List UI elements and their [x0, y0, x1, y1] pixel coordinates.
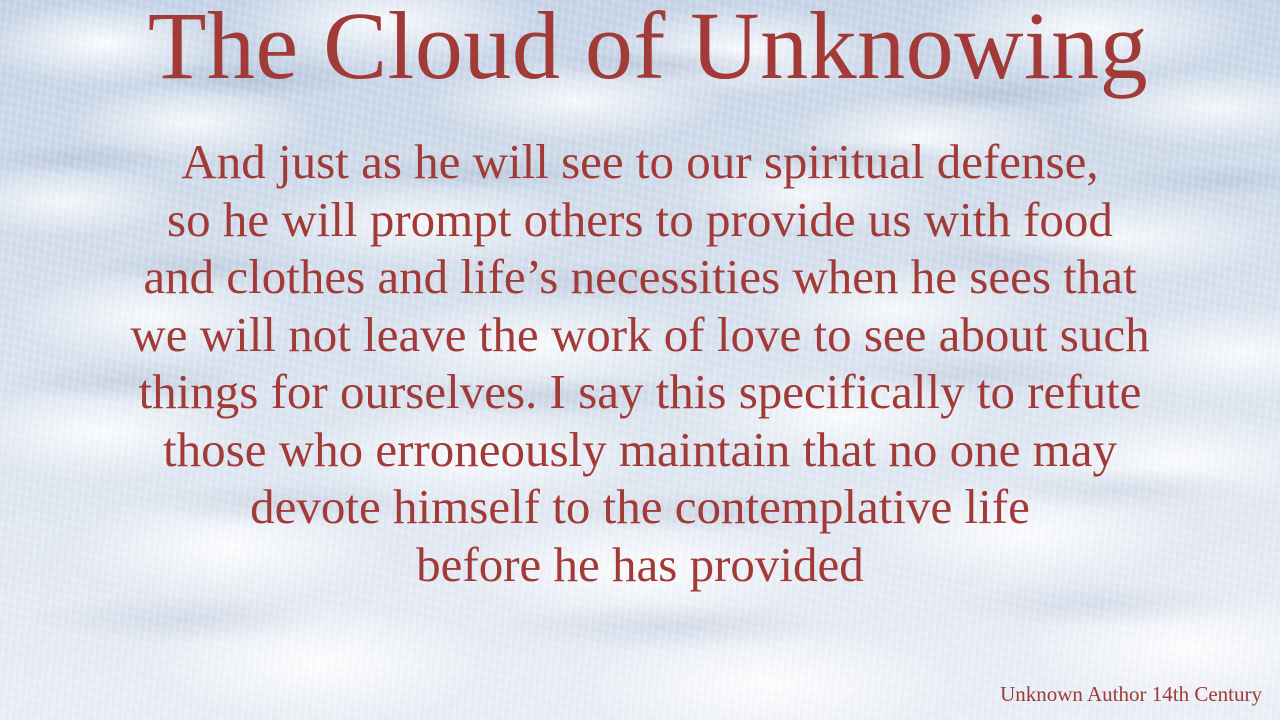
quote-line: those who erroneously maintain that no o…	[0, 421, 1280, 479]
quote-line: things for ourselves. I say this specifi…	[0, 363, 1280, 421]
quote-line: and clothes and life’s necessities when …	[0, 248, 1280, 306]
quote-line: before he has provided	[0, 536, 1280, 594]
slide-content: The Cloud of Unknowing And just as he wi…	[0, 0, 1280, 720]
quote-line: devote himself to the contemplative life	[0, 478, 1280, 536]
slide-title: The Cloud of Unknowing	[0, 0, 1280, 97]
quote-attribution: Unknown Author 14th Century	[1000, 682, 1262, 706]
quote-line: we will not leave the work of love to se…	[0, 306, 1280, 364]
quote-slide: The Cloud of Unknowing And just as he wi…	[0, 0, 1280, 720]
quote-body: And just as he will see to our spiritual…	[0, 133, 1280, 593]
quote-line: And just as he will see to our spiritual…	[0, 133, 1280, 191]
quote-line: so he will prompt others to provide us w…	[0, 191, 1280, 249]
